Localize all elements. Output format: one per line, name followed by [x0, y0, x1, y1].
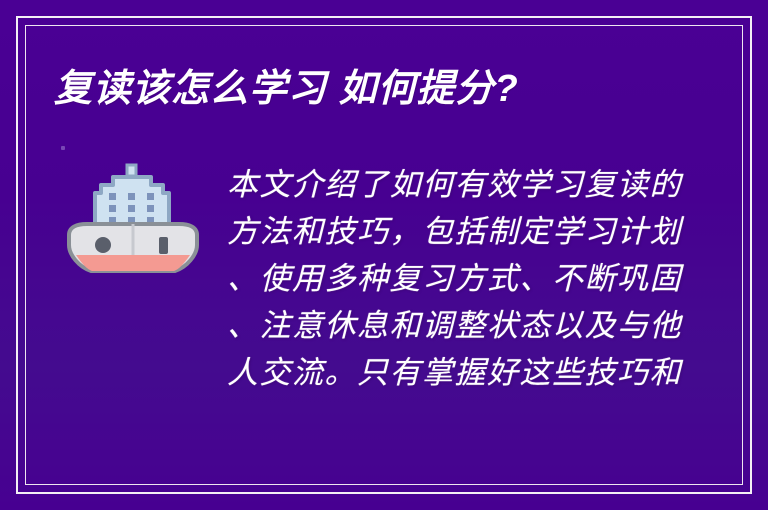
page-title: 复读该怎么学习 如何提分?: [54, 66, 519, 112]
summary-line: 方法和技巧，包括制定学习计划: [227, 209, 659, 256]
poster-canvas: 复读该怎么学习 如何提分?: [0, 0, 768, 510]
summary-line: 人交流。只有掌握好这些技巧和: [227, 350, 659, 397]
ship-icon-svg: [63, 163, 203, 281]
ship-icon: [63, 163, 203, 281]
summary-line: 、注意休息和调整状态以及与他: [227, 303, 659, 350]
summary-line: 本文介绍了如何有效学习复读的: [227, 162, 659, 209]
summary-line: 、使用多种复习方式、不断巩固: [227, 256, 659, 303]
artifact-dot: [61, 146, 65, 150]
summary-text: 本文介绍了如何有效学习复读的 方法和技巧，包括制定学习计划 、使用多种复习方式、…: [227, 162, 659, 397]
